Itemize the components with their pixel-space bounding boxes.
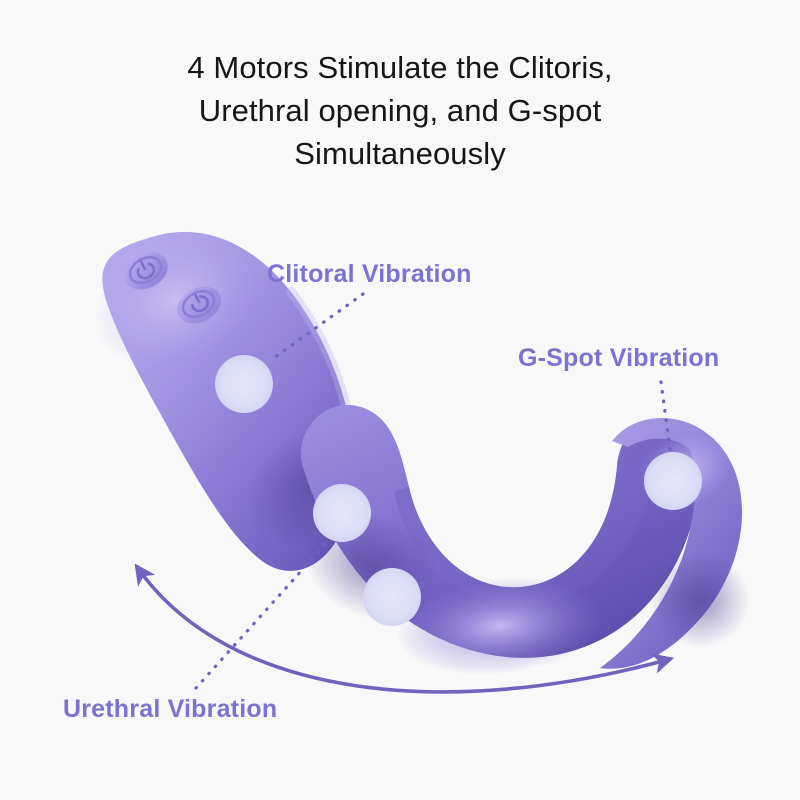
motor-second bbox=[363, 568, 421, 626]
callout-label-urethral: Urethral Vibration bbox=[63, 695, 277, 724]
motor-clitoral bbox=[215, 355, 273, 413]
motor-urethral bbox=[313, 484, 371, 542]
callout-label-gspot: G-Spot Vibration bbox=[518, 344, 719, 373]
motor-gspot bbox=[644, 452, 702, 510]
product-illustration bbox=[0, 0, 800, 800]
infographic-canvas: 4 Motors Stimulate the Clitoris, Urethra… bbox=[0, 0, 800, 800]
head-shadow bbox=[650, 552, 750, 648]
callout-label-clitoral: Clitoral Vibration bbox=[267, 260, 472, 289]
